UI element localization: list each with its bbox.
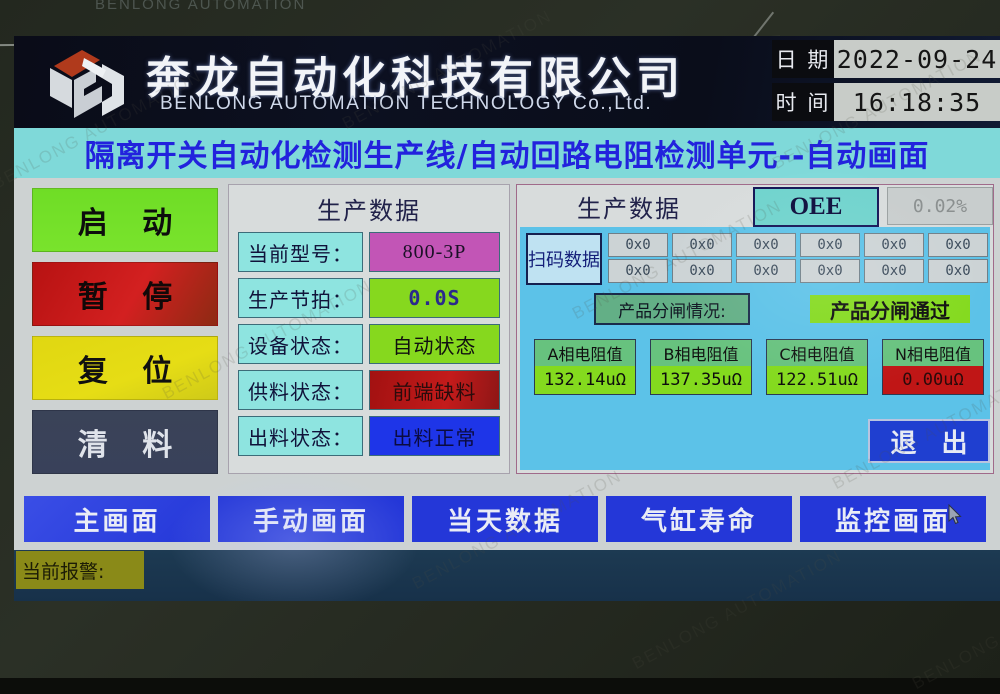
tab-manual-screen[interactable]: 手动画面 — [218, 496, 404, 542]
scan-data-column: 0x0 0x0 — [928, 233, 988, 285]
phase-n-value: 0.00uΩ — [883, 366, 983, 394]
scan-data-cell: 0x0 — [864, 233, 924, 257]
screen-title: 隔离开关自动化检测生产线/自动回路电阻检测单元--自动画面 — [85, 131, 930, 175]
phase-n-resistance: N相电阻值 0.00uΩ — [882, 339, 984, 395]
bezel-brand-text: BENLONG AUTOMATION — [95, 0, 425, 20]
scan-data-cell: 0x0 — [672, 259, 732, 283]
breaker-status-label: 产品分闸情况: — [594, 293, 750, 325]
phase-b-label: B相电阻值 — [651, 340, 751, 366]
phase-resistance-group: A相电阻值 132.14uΩ B相电阻值 137.35uΩ C相电阻值 122.… — [534, 339, 998, 395]
phase-c-value: 122.51uΩ — [767, 366, 867, 394]
control-button-column: 启 动 暂 停 复 位 清 料 — [32, 188, 218, 484]
phase-a-value: 132.14uΩ — [535, 366, 635, 394]
scan-data-column: 0x0 0x0 — [800, 233, 860, 285]
scan-data-column: 0x0 0x0 — [672, 233, 732, 285]
device-status-value: 自动状态 — [369, 324, 500, 364]
phase-n-label: N相电阻值 — [883, 340, 983, 366]
breaker-status-badge: 产品分闸通过 — [810, 295, 970, 323]
pause-button-label: 暂 停 — [66, 272, 184, 316]
navigation-tabs: 主画面 手动画面 当天数据 气缸寿命 监控画面 — [24, 496, 994, 542]
breaker-status-row: 产品分闸情况: 产品分闸通过 — [594, 293, 970, 325]
exit-button[interactable]: 退 出 — [868, 419, 990, 463]
current-alarm-label: 当前报警: — [16, 551, 144, 589]
cycle-time-value: 0.0S — [369, 278, 500, 318]
company-name-en: BENLONG AUTOMATION TECHNOLOGY Co.,Ltd. — [160, 93, 652, 115]
header-bar: 奔龙自动化科技有限公司 BENLONG AUTOMATION TECHNOLOG… — [14, 36, 1000, 128]
tab-today-data[interactable]: 当天数据 — [412, 496, 598, 542]
date-label: 日 期 — [772, 40, 834, 78]
time-value: 16:18:35 — [834, 83, 1000, 121]
time-label: 时 间 — [772, 83, 834, 121]
row-cycle-time: 生产节拍： 0.0S — [238, 278, 500, 318]
screen-title-bar: 隔离开关自动化检测生产线/自动回路电阻检测单元--自动画面 — [14, 128, 1000, 178]
start-button[interactable]: 启 动 — [32, 188, 218, 252]
output-status-value: 出料正常 — [369, 416, 500, 456]
production-data-panel-right: 生产数据 OEE 0.02% 扫码数据 0x0 0x0 0x0 — [516, 184, 994, 474]
scan-data-cell: 0x0 — [608, 233, 668, 257]
date-row: 日 期 2022-09-24 — [772, 40, 1000, 78]
scan-data-column: 0x0 0x0 — [608, 233, 668, 285]
main-content-area: 启 动 暂 停 复 位 清 料 生产数据 当前型号： 800-3P 生产节拍： … — [14, 178, 1000, 488]
scan-data-row: 扫码数据 0x0 0x0 0x0 0x0 0x0 — [526, 233, 992, 285]
row-feed-status: 供料状态： 前端缺料 — [238, 370, 500, 410]
tab-monitor-screen[interactable]: 监控画面 — [800, 496, 986, 542]
pause-button[interactable]: 暂 停 — [32, 262, 218, 326]
device-status-label: 设备状态： — [238, 324, 363, 364]
tab-cylinder-life[interactable]: 气缸寿命 — [606, 496, 792, 542]
left-panel-title: 生产数据 — [229, 185, 509, 226]
feed-status-label: 供料状态： — [238, 370, 363, 410]
cycle-time-label: 生产节拍： — [238, 278, 363, 318]
time-row: 时 间 16:18:35 — [772, 83, 1000, 121]
scan-data-grid: 0x0 0x0 0x0 0x0 0x0 0x0 — [608, 233, 992, 285]
reset-button[interactable]: 复 位 — [32, 336, 218, 400]
production-data-panel-left: 生产数据 当前型号： 800-3P 生产节拍： 0.0S 设备状态： 自动状态 … — [228, 184, 510, 474]
right-panel-title: 生产数据 — [577, 189, 681, 224]
date-value: 2022-09-24 — [834, 40, 1000, 78]
row-current-model: 当前型号： 800-3P — [238, 232, 500, 272]
oee-value: 0.02% — [887, 187, 993, 225]
scan-data-cell: 0x0 — [800, 233, 860, 257]
oee-button[interactable]: OEE — [753, 187, 879, 227]
scan-data-column: 0x0 0x0 — [736, 233, 796, 285]
current-model-label: 当前型号： — [238, 232, 363, 272]
phase-c-label: C相电阻值 — [767, 340, 867, 366]
phase-b-value: 137.35uΩ — [651, 366, 751, 394]
scan-data-label: 扫码数据 — [526, 233, 602, 285]
reset-button-label: 复 位 — [66, 346, 184, 390]
row-device-status: 设备状态： 自动状态 — [238, 324, 500, 364]
hmi-device-panel: BENLONG AUTOMATION 奔龙自动化科技有限公司 BENLONG A… — [0, 0, 1000, 678]
scan-data-cell: 0x0 — [864, 259, 924, 283]
datetime-panel: 日 期 2022-09-24 时 间 16:18:35 — [772, 40, 1000, 124]
scan-data-column: 0x0 0x0 — [864, 233, 924, 285]
output-status-label: 出料状态： — [238, 416, 363, 456]
phase-c-resistance: C相电阻值 122.51uΩ — [766, 339, 868, 395]
clear-material-button[interactable]: 清 料 — [32, 410, 218, 474]
tab-main-screen[interactable]: 主画面 — [24, 496, 210, 542]
phase-a-label: A相电阻值 — [535, 340, 635, 366]
hmi-screen: 奔龙自动化科技有限公司 BENLONG AUTOMATION TECHNOLOG… — [14, 36, 1000, 601]
right-panel-header: 生产数据 OEE 0.02% — [517, 185, 993, 227]
scan-data-cell: 0x0 — [608, 259, 668, 283]
scan-data-cell: 0x0 — [736, 259, 796, 283]
clear-material-button-label: 清 料 — [66, 420, 184, 464]
phase-b-resistance: B相电阻值 137.35uΩ — [650, 339, 752, 395]
scan-data-cell: 0x0 — [800, 259, 860, 283]
navigation-bar: 主画面 手动画面 当天数据 气缸寿命 监控画面 — [14, 488, 1000, 550]
scan-data-cell: 0x0 — [736, 233, 796, 257]
row-output-status: 出料状态： 出料正常 — [238, 416, 500, 456]
phase-a-resistance: A相电阻值 132.14uΩ — [534, 339, 636, 395]
scan-data-cell: 0x0 — [928, 233, 988, 257]
benlong-cube-logo-icon — [40, 46, 136, 120]
measurement-zone: 扫码数据 0x0 0x0 0x0 0x0 0x0 — [520, 227, 990, 470]
start-button-label: 启 动 — [66, 198, 184, 242]
alarm-bar: 当前报警: — [14, 550, 1000, 601]
scan-data-cell: 0x0 — [672, 233, 732, 257]
scan-data-cell: 0x0 — [928, 259, 988, 283]
feed-status-value: 前端缺料 — [369, 370, 500, 410]
current-model-value: 800-3P — [369, 232, 500, 272]
